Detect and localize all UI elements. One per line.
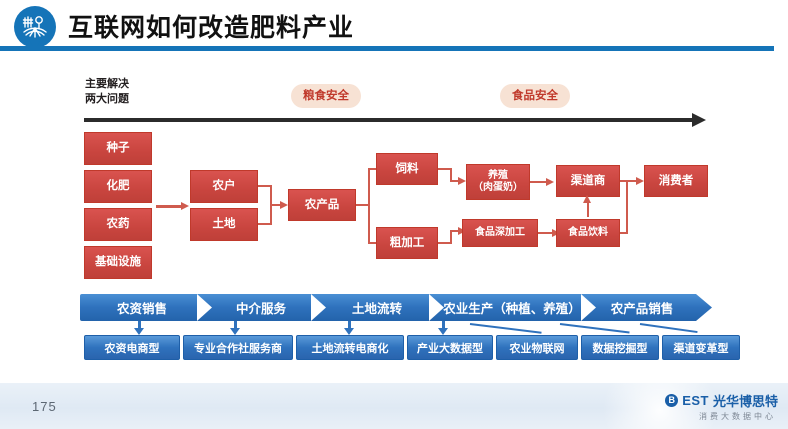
connector-production-to-product-head-icon <box>280 201 288 209</box>
box-agri-product[interactable]: 农产品 <box>288 189 356 221</box>
model-box-land-transfer-ec[interactable]: 土地流转电商化 <box>296 335 404 360</box>
page-title: 互联网如何改造肥料产业 <box>68 8 354 44</box>
box-infrastructure[interactable]: 基础设施 <box>84 246 152 279</box>
connector-beverage-to-channel <box>587 201 589 217</box>
pill-food-safety: 食品安全 <box>500 84 570 108</box>
stem-1-head-icon <box>134 328 144 335</box>
box-food-beverage[interactable]: 食品饮料 <box>556 219 620 247</box>
stem-6 <box>560 323 630 334</box>
header-rule-left <box>0 46 16 51</box>
connector-channel-right <box>626 180 628 232</box>
model-box-industry-bigdata[interactable]: 产业大数据型 <box>407 335 493 360</box>
band-stage-agri-production[interactable]: 农业生产（种植、养殖） <box>436 294 588 321</box>
stem-2-head-icon <box>230 328 240 335</box>
pill-grain-safety: 粮食安全 <box>291 84 361 108</box>
box-fertilizer[interactable]: 化肥 <box>84 170 152 203</box>
diagram-canvas: 主要解决 两大问题 粮食安全 食品安全 种子 化肥 农药 基础设施 农户 土地 … <box>0 53 788 383</box>
brand-mark-icon: B <box>665 394 678 407</box>
timeline-arrow-line <box>84 118 694 122</box>
stem-3-head-icon <box>344 328 354 335</box>
diagram-note-line2: 两大问题 <box>85 92 195 107</box>
band-stage-intermediary[interactable]: 中介服务 <box>204 294 318 321</box>
footer-decor-swoosh <box>0 383 198 429</box>
connector-to-consumer-head-icon <box>636 177 644 185</box>
connector-product-bracket <box>368 168 370 244</box>
brand-name-cn: 光华博思特 <box>713 391 778 410</box>
page-number: 175 <box>32 399 57 414</box>
diagram-note: 主要解决 两大问题 <box>85 77 195 107</box>
model-box-data-mining[interactable]: 数据挖掘型 <box>581 335 659 360</box>
stem-5 <box>470 323 542 334</box>
band-stage-land-transfer[interactable]: 土地流转 <box>318 294 436 321</box>
slide: 互联网如何改造肥料产业 主要解决 两大问题 粮食安全 食品安全 种子 化肥 农药… <box>0 0 788 429</box>
connector-rough-up <box>450 230 452 244</box>
brand-subtitle: 消费大数据中心 <box>665 411 776 422</box>
box-feed[interactable]: 饲料 <box>376 153 438 185</box>
stem-4-head-icon <box>438 328 448 335</box>
box-land[interactable]: 土地 <box>190 208 258 241</box>
box-breeding[interactable]: 养殖 （肉蛋奶） <box>466 164 530 200</box>
brand-name-en: EST <box>682 393 709 408</box>
model-box-agri-ecommerce[interactable]: 农资电商型 <box>84 335 180 360</box>
diagram-note-line1: 主要解决 <box>85 77 195 92</box>
connector-beverage-right <box>620 232 628 234</box>
connector-inputs-to-production <box>156 205 182 208</box>
box-food-deep-processing[interactable]: 食品深加工 <box>462 219 538 247</box>
model-box-coop-service[interactable]: 专业合作社服务商 <box>183 335 293 360</box>
model-box-agri-iot[interactable]: 农业物联网 <box>496 335 578 360</box>
stem-7 <box>640 323 698 333</box>
box-farmer[interactable]: 农户 <box>190 170 258 203</box>
location-pin-icon <box>14 6 56 48</box>
box-breeding-line2: （肉蛋奶） <box>473 182 523 194</box>
band-stage-product-sales[interactable]: 农产品销售 <box>588 294 696 321</box>
slide-header: 互联网如何改造肥料产业 <box>0 0 788 52</box>
box-rough-processing[interactable]: 粗加工 <box>376 227 438 259</box>
box-seed[interactable]: 种子 <box>84 132 152 165</box>
timeline-arrow-head-icon <box>692 113 706 127</box>
box-consumer[interactable]: 消费者 <box>644 165 708 197</box>
slide-footer: 175 B EST 光华博思特 消费大数据中心 <box>0 383 788 429</box>
pin-inner-graphic <box>22 14 48 40</box>
box-breeding-line1: 养殖 <box>488 170 508 182</box>
connector-feed-to-breeding-head-icon <box>458 177 466 185</box>
value-chain-band: 农资销售 中介服务 土地流转 农业生产（种植、养殖） 农产品销售 <box>80 294 710 321</box>
box-channel-dealer[interactable]: 渠道商 <box>556 165 620 197</box>
band-stage-agri-input-sales[interactable]: 农资销售 <box>80 294 204 321</box>
connector-beverage-to-channel-head-icon <box>583 195 591 203</box>
band-end-arrow-icon <box>696 294 712 321</box>
header-rule <box>14 46 774 51</box>
model-box-channel-reform[interactable]: 渠道变革型 <box>662 335 740 360</box>
connector-breeding-to-channel-head-icon <box>546 178 554 186</box>
box-pesticide[interactable]: 农药 <box>84 208 152 241</box>
connector-inputs-to-production-head-icon <box>181 202 189 210</box>
brand-logo: B EST 光华博思特 消费大数据中心 <box>665 391 778 422</box>
